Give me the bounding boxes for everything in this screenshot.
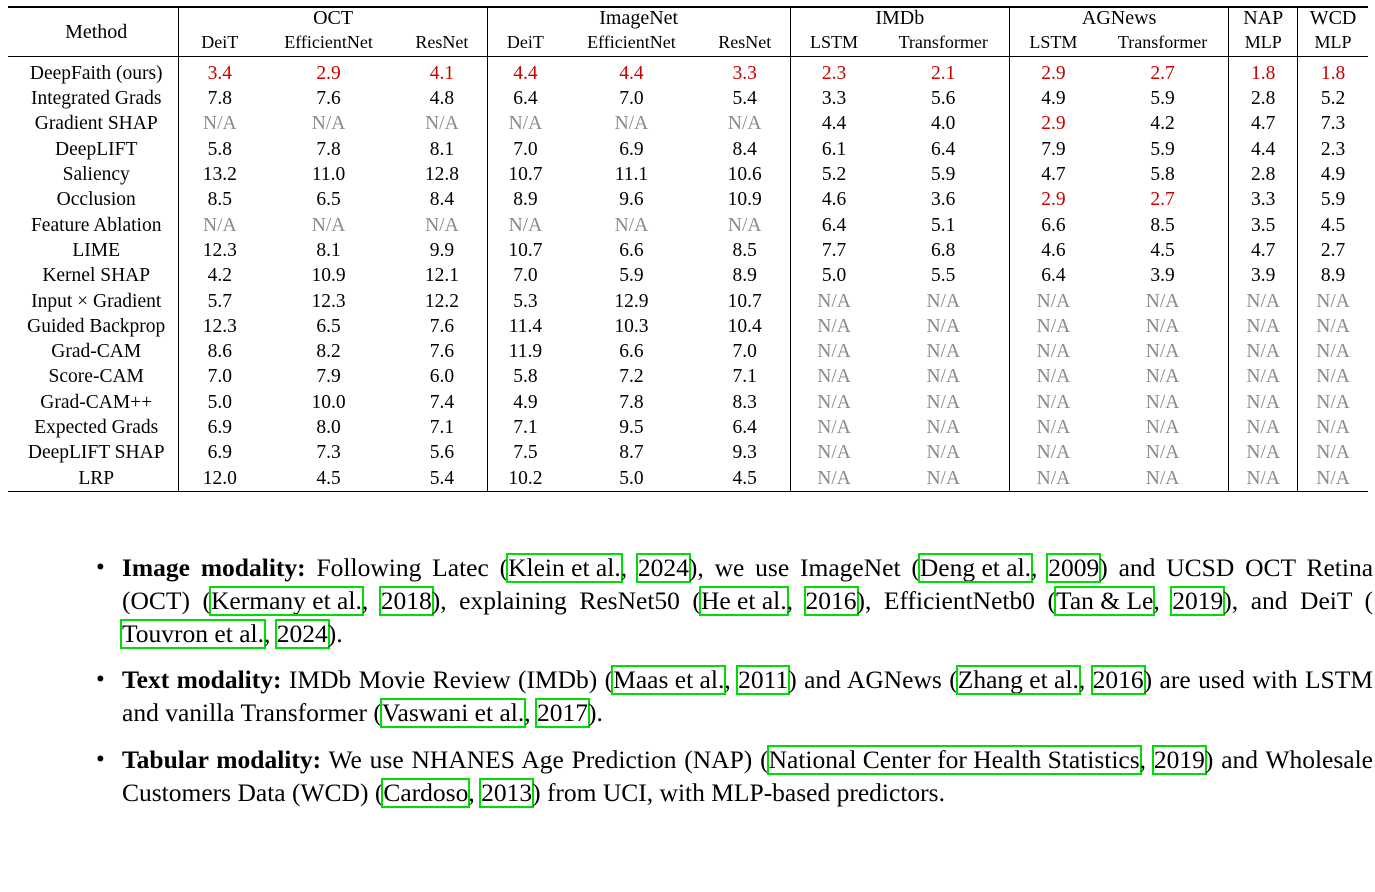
table-cell: 8.3	[700, 390, 790, 415]
table-cell: 7.2	[563, 365, 700, 390]
table-cell: 2.9	[1009, 187, 1096, 212]
table-cell: N/A	[1298, 440, 1368, 465]
table-cell: 3.3	[700, 57, 790, 87]
table-cell: 7.0	[700, 339, 790, 364]
table-cell: 6.5	[260, 314, 397, 339]
table-row: DeepFaith (ours)3.42.94.14.44.43.32.32.1…	[8, 57, 1368, 87]
table-cell: N/A	[790, 365, 877, 390]
citation-link[interactable]: 2024	[638, 555, 689, 581]
table-cell: 2.3	[1298, 137, 1368, 162]
table-cell: N/A	[1229, 466, 1298, 492]
table-row: Input × Gradient5.712.312.25.312.910.7N/…	[8, 289, 1368, 314]
table-row: Grad-CAM8.68.27.611.96.67.0N/AN/AN/AN/AN…	[8, 339, 1368, 364]
table-cell: 6.4	[487, 86, 563, 111]
table-cell: 2.9	[260, 57, 397, 87]
table-cell: 12.8	[397, 162, 487, 187]
column-group-header-wcd: WCD	[1298, 7, 1368, 30]
table-cell: N/A	[1229, 440, 1298, 465]
list-item-lead-in: Tabular modality:	[122, 745, 321, 774]
table-cell: 8.4	[700, 137, 790, 162]
table-cell: 7.0	[563, 86, 700, 111]
table-head: MethodOCTImageNetIMDbAGNewsNAPWCD DeiTEf…	[8, 7, 1368, 57]
column-header-agnews-transformer: Transformer	[1097, 30, 1229, 57]
table-row: Score-CAM7.07.96.05.87.27.1N/AN/AN/AN/AN…	[8, 365, 1368, 390]
results-table-container: MethodOCTImageNetIMDbAGNewsNAPWCD DeiTEf…	[8, 6, 1368, 496]
citation-link[interactable]: Maas et al.	[613, 667, 724, 693]
table-cell: N/A	[1009, 390, 1096, 415]
table-cell: 9.9	[397, 238, 487, 263]
table-cell: 6.4	[1009, 263, 1096, 288]
table-cell: 4.7	[1229, 238, 1298, 263]
row-label-method: DeepLIFT SHAP	[8, 440, 179, 465]
citation-link[interactable]: He et al.	[701, 588, 787, 614]
table-cell: 7.9	[1009, 137, 1096, 162]
row-label-method: Input × Gradient	[8, 289, 179, 314]
table-cell: N/A	[563, 112, 700, 137]
table-cell: N/A	[1097, 390, 1229, 415]
table-cell: N/A	[1009, 466, 1096, 492]
table-cell: 8.5	[1097, 213, 1229, 238]
row-label-method: Occlusion	[8, 187, 179, 212]
citation-link[interactable]: 2019	[1154, 747, 1205, 773]
table-cell: 5.9	[563, 263, 700, 288]
table-cell: N/A	[397, 213, 487, 238]
table-cell: 6.5	[260, 187, 397, 212]
citation-link[interactable]: 2013	[481, 780, 532, 806]
table-cell: 7.8	[179, 86, 260, 111]
table-cell: 3.9	[1229, 263, 1298, 288]
table-cell: N/A	[397, 112, 487, 137]
column-header-wcd-mlp: MLP	[1298, 30, 1368, 57]
table-cell: N/A	[1009, 314, 1096, 339]
table-cell: 12.3	[260, 289, 397, 314]
table-cell: 3.4	[179, 57, 260, 87]
table-cell: 7.0	[487, 263, 563, 288]
citation-link[interactable]: Cardoso	[383, 780, 468, 806]
table-cell: 6.4	[790, 213, 877, 238]
table-cell: 7.8	[563, 390, 700, 415]
table-cell: 6.6	[563, 238, 700, 263]
table-cell: 2.8	[1229, 162, 1298, 187]
table-cell: N/A	[1298, 314, 1368, 339]
row-label-method: LIME	[8, 238, 179, 263]
table-cell: 6.0	[397, 365, 487, 390]
table-cell: 13.2	[179, 162, 260, 187]
table-cell: 10.9	[700, 187, 790, 212]
table-row: Occlusion8.56.58.48.99.610.94.63.62.92.7…	[8, 187, 1368, 212]
table-cell: 4.5	[1097, 238, 1229, 263]
table-cell: N/A	[1009, 339, 1096, 364]
table-cell: 3.3	[790, 86, 877, 111]
table-cell: 8.5	[700, 238, 790, 263]
row-label-method: Feature Ablation	[8, 213, 179, 238]
table-cell: 2.9	[1009, 112, 1096, 137]
table-cell: 4.7	[1009, 162, 1096, 187]
column-header-agnews-lstm: LSTM	[1009, 30, 1096, 57]
table-cell: 4.4	[1229, 137, 1298, 162]
table-cell: N/A	[1097, 415, 1229, 440]
table-cell: N/A	[878, 365, 1010, 390]
table-cell: 5.7	[179, 289, 260, 314]
table-cell: N/A	[790, 466, 877, 492]
table-cell: 3.6	[878, 187, 1010, 212]
table-cell: 6.4	[700, 415, 790, 440]
row-label-method: LRP	[8, 466, 179, 492]
row-label-method: Kernel SHAP	[8, 263, 179, 288]
table-row: Kernel SHAP4.210.912.17.05.98.95.05.56.4…	[8, 263, 1368, 288]
table-cell: 3.3	[1229, 187, 1298, 212]
table-cell: N/A	[1097, 440, 1229, 465]
row-label-method: Grad-CAM	[8, 339, 179, 364]
table-cell: N/A	[878, 466, 1010, 492]
body-text: ,	[787, 586, 806, 615]
body-text: ).	[588, 698, 603, 727]
table-cell: 4.6	[790, 187, 877, 212]
table-cell: 5.2	[790, 162, 877, 187]
row-label-method: DeepLIFT	[8, 137, 179, 162]
table-cell: 8.1	[397, 137, 487, 162]
table-row: Guided Backprop12.36.57.611.410.310.4N/A…	[8, 314, 1368, 339]
citation-link[interactable]: 2011	[738, 667, 788, 693]
table-cell: 4.1	[397, 57, 487, 87]
column-group-header-oct: OCT	[179, 7, 487, 30]
table-cell: 4.5	[260, 466, 397, 492]
table-cell: N/A	[1229, 365, 1298, 390]
table-cell: 4.2	[1097, 112, 1229, 137]
table-cell: N/A	[878, 390, 1010, 415]
table-cell: 6.8	[878, 238, 1010, 263]
list-item: •Image modality: Following Latec (Klein …	[88, 552, 1373, 650]
table-row: Saliency13.211.012.810.711.110.65.25.94.…	[8, 162, 1368, 187]
citation-link[interactable]: National Center for Health Statistics	[769, 747, 1140, 773]
table-cell: 5.8	[487, 365, 563, 390]
table-cell: 5.8	[1097, 162, 1229, 187]
table-cell: N/A	[1097, 339, 1229, 364]
body-text: ,	[724, 665, 738, 694]
table-cell: 5.4	[397, 466, 487, 492]
table-cell: 4.6	[1009, 238, 1096, 263]
table-cell: 2.3	[790, 57, 877, 87]
table-cell: 9.6	[563, 187, 700, 212]
table-cell: 4.5	[700, 466, 790, 492]
table-cell: N/A	[1009, 440, 1096, 465]
table-cell: 2.7	[1097, 187, 1229, 212]
list-item-lead-in: Image modality:	[122, 553, 306, 582]
table-cell: 11.4	[487, 314, 563, 339]
column-header-imdb-lstm: LSTM	[790, 30, 877, 57]
table-row: Expected Grads6.98.07.17.19.56.4N/AN/AN/…	[8, 415, 1368, 440]
table-cell: N/A	[700, 112, 790, 137]
table-cell: 5.5	[878, 263, 1010, 288]
table-cell: 11.9	[487, 339, 563, 364]
citation-link[interactable]: 2018	[381, 588, 432, 614]
table-body: DeepFaith (ours)3.42.94.14.44.43.32.32.1…	[8, 57, 1368, 497]
table-cell: 10.7	[487, 162, 563, 187]
bullet-dot-icon: •	[96, 744, 105, 776]
table-cell: N/A	[1097, 314, 1229, 339]
table-cell: 11.0	[260, 162, 397, 187]
table-cell: N/A	[1298, 339, 1368, 364]
table-cell: 10.7	[487, 238, 563, 263]
table-cell: N/A	[487, 213, 563, 238]
table-cell: 5.3	[487, 289, 563, 314]
table-cell: N/A	[179, 112, 260, 137]
citation-link[interactable]: Kermany et al.	[211, 588, 362, 614]
list-item: •Tabular modality: We use NHANES Age Pre…	[88, 744, 1373, 810]
table-cell: 6.9	[563, 137, 700, 162]
table-cell: N/A	[1298, 365, 1368, 390]
body-text: ), we use ImageNet (	[689, 553, 920, 582]
table-cell: 2.7	[1097, 57, 1229, 87]
citation-link[interactable]: Touvron et al.	[122, 621, 264, 647]
row-label-method: Gradient SHAP	[8, 112, 179, 137]
group-header-row: MethodOCTImageNetIMDbAGNewsNAPWCD	[8, 7, 1368, 30]
citation-link[interactable]: 2024	[277, 621, 328, 647]
table-cell: N/A	[1229, 314, 1298, 339]
citation-link[interactable]: 2017	[537, 700, 588, 726]
row-label-method: Score-CAM	[8, 365, 179, 390]
table-cell: N/A	[878, 415, 1010, 440]
citation-link[interactable]: Vaswani et al.	[382, 700, 524, 726]
table-cell: N/A	[790, 314, 877, 339]
table-cell: N/A	[790, 440, 877, 465]
body-text: ,	[468, 778, 481, 807]
table-cell: 10.3	[563, 314, 700, 339]
table-cell: 6.1	[790, 137, 877, 162]
table-cell: N/A	[878, 440, 1010, 465]
body-text: We use NHANES Age Prediction (NAP) (	[321, 745, 768, 774]
table-cell: 1.8	[1229, 57, 1298, 87]
table-row: LIME12.38.19.910.76.68.57.76.84.64.54.72…	[8, 238, 1368, 263]
table-cell: N/A	[1097, 365, 1229, 390]
table-cell: 3.5	[1229, 213, 1298, 238]
table-cell: 2.8	[1229, 86, 1298, 111]
table-cell: N/A	[1229, 339, 1298, 364]
column-header-imagenet-efficientnet: EfficientNet	[563, 30, 700, 57]
table-cell: 4.7	[1229, 112, 1298, 137]
table-cell: N/A	[790, 390, 877, 415]
table-cell: 8.9	[487, 187, 563, 212]
table-cell: 4.4	[563, 57, 700, 87]
column-header-oct-efficientnet: EfficientNet	[260, 30, 397, 57]
bottom-rule	[8, 492, 1368, 497]
table-cell: 6.4	[878, 137, 1010, 162]
table-cell: N/A	[700, 213, 790, 238]
table-cell: 4.0	[878, 112, 1010, 137]
table-cell: N/A	[1298, 390, 1368, 415]
table-cell: 1.8	[1298, 57, 1368, 87]
table-cell: 12.2	[397, 289, 487, 314]
table-cell: 7.4	[397, 390, 487, 415]
column-header-oct-resnet: ResNet	[397, 30, 487, 57]
table-cell: 9.5	[563, 415, 700, 440]
row-label-method: Integrated Grads	[8, 86, 179, 111]
citation-link[interactable]: 2019	[1172, 588, 1223, 614]
table-cell: 7.8	[260, 137, 397, 162]
table-cell: 5.9	[1097, 86, 1229, 111]
body-text: ,	[1031, 553, 1048, 582]
table-cell: 4.2	[179, 263, 260, 288]
table-cell: 7.6	[397, 314, 487, 339]
table-cell: 10.7	[700, 289, 790, 314]
table-cell: 7.7	[790, 238, 877, 263]
body-text: IMDb Movie Review (IMDb) (	[281, 665, 613, 694]
table-cell: 10.0	[260, 390, 397, 415]
table-cell: 8.9	[1298, 263, 1368, 288]
table-cell: 5.9	[878, 162, 1010, 187]
body-text: ,	[621, 553, 638, 582]
table-cell: 6.9	[179, 440, 260, 465]
table-cell: 7.0	[487, 137, 563, 162]
table-cell: 8.0	[260, 415, 397, 440]
body-text: ), EfficientNetb0 (	[857, 586, 1057, 615]
column-header-method: Method	[8, 7, 179, 57]
table-cell: 10.9	[260, 263, 397, 288]
citation-link[interactable]: Deng et al.	[920, 555, 1031, 581]
table-cell: 12.0	[179, 466, 260, 492]
list-item: •Text modality: IMDb Movie Review (IMDb)…	[88, 664, 1373, 730]
table-cell: N/A	[1229, 289, 1298, 314]
table-cell: 5.1	[878, 213, 1010, 238]
table-row: DeepLIFT SHAP6.97.35.67.58.79.3N/AN/AN/A…	[8, 440, 1368, 465]
row-label-method: Guided Backprop	[8, 314, 179, 339]
bullet-dot-icon: •	[96, 552, 105, 584]
table-cell: 8.7	[563, 440, 700, 465]
table-cell: N/A	[487, 112, 563, 137]
body-text: ), and DeiT (	[1223, 586, 1373, 615]
table-cell: 4.9	[1009, 86, 1096, 111]
modality-bullet-list: •Image modality: Following Latec (Klein …	[88, 552, 1373, 809]
body-text: ,	[362, 586, 381, 615]
table-cell: 4.9	[487, 390, 563, 415]
table-cell: 4.8	[397, 86, 487, 111]
table-cell: 7.9	[260, 365, 397, 390]
table-row: Gradient SHAPN/AN/AN/AN/AN/AN/A4.44.02.9…	[8, 112, 1368, 137]
row-label-method: Grad-CAM++	[8, 390, 179, 415]
column-group-header-imdb: IMDb	[790, 7, 1009, 30]
table-cell: 7.1	[397, 415, 487, 440]
table-cell: N/A	[260, 112, 397, 137]
citation-link[interactable]: 2016	[806, 588, 857, 614]
subcolumn-header-row: DeiTEfficientNetResNetDeiTEfficientNetRe…	[8, 30, 1368, 57]
table-cell: 10.2	[487, 466, 563, 492]
table-cell: 9.3	[700, 440, 790, 465]
table-cell: N/A	[1009, 365, 1096, 390]
table-cell: 12.9	[563, 289, 700, 314]
table-cell: 12.3	[179, 238, 260, 263]
table-cell: 12.3	[179, 314, 260, 339]
table-cell: 6.9	[179, 415, 260, 440]
column-group-header-agnews: AGNews	[1009, 7, 1228, 30]
table-cell: 5.9	[1097, 137, 1229, 162]
table-cell: 8.6	[179, 339, 260, 364]
table-cell: 5.0	[563, 466, 700, 492]
body-text: ,	[1079, 665, 1093, 694]
column-header-oct-deit: DeiT	[179, 30, 260, 57]
body-text: ,	[1153, 586, 1172, 615]
citation-link[interactable]: Klein et al.	[508, 555, 621, 581]
table-cell: 8.2	[260, 339, 397, 364]
citation-link[interactable]: Tan & Le	[1056, 588, 1153, 614]
table-cell: N/A	[790, 339, 877, 364]
table-cell: 5.4	[700, 86, 790, 111]
table-cell: N/A	[1298, 466, 1368, 492]
table-cell: N/A	[179, 213, 260, 238]
column-header-imagenet-deit: DeiT	[487, 30, 563, 57]
table-cell: 5.2	[1298, 86, 1368, 111]
table-cell: 7.3	[260, 440, 397, 465]
table-cell: 4.5	[1298, 213, 1368, 238]
column-header-nap-mlp: MLP	[1229, 30, 1298, 57]
table-cell: 11.1	[563, 162, 700, 187]
table-row: Grad-CAM++5.010.07.44.97.88.3N/AN/AN/AN/…	[8, 390, 1368, 415]
table-cell: 7.1	[700, 365, 790, 390]
table-cell: 5.6	[878, 86, 1010, 111]
table-bottom-rule	[8, 492, 1368, 497]
table-cell: 7.5	[487, 440, 563, 465]
citation-link[interactable]: 2009	[1048, 555, 1099, 581]
table-cell: 6.6	[1009, 213, 1096, 238]
table-cell: 8.9	[700, 263, 790, 288]
table-cell: N/A	[563, 213, 700, 238]
body-text: ), explaining ResNet50 (	[432, 586, 701, 615]
table-cell: 5.0	[790, 263, 877, 288]
table-cell: 7.0	[179, 365, 260, 390]
table-cell: N/A	[1229, 390, 1298, 415]
table-cell: 12.1	[397, 263, 487, 288]
table-cell: 8.1	[260, 238, 397, 263]
table-cell: N/A	[1298, 415, 1368, 440]
table-cell: 5.8	[179, 137, 260, 162]
table-cell: 2.9	[1009, 57, 1096, 87]
body-text: ) from UCI, with MLP-based predictors.	[532, 778, 945, 807]
citation-link[interactable]: Zhang et al.	[958, 667, 1079, 693]
body-text: ,	[264, 619, 277, 648]
table-cell: N/A	[1009, 289, 1096, 314]
table-cell: N/A	[878, 339, 1010, 364]
table-row: Integrated Grads7.87.64.86.47.05.43.35.6…	[8, 86, 1368, 111]
row-label-method: Expected Grads	[8, 415, 179, 440]
body-text: ) and AGNews (	[788, 665, 958, 694]
table-cell: N/A	[1009, 415, 1096, 440]
table-cell: 5.9	[1298, 187, 1368, 212]
table-cell: N/A	[1097, 289, 1229, 314]
table-cell: N/A	[878, 314, 1010, 339]
bullet-dot-icon: •	[96, 664, 105, 696]
row-label-method: Saliency	[8, 162, 179, 187]
table-cell: N/A	[790, 289, 877, 314]
table-cell: 4.4	[487, 57, 563, 87]
table-cell: 10.6	[700, 162, 790, 187]
table-row: DeepLIFT5.87.88.17.06.98.46.16.47.95.94.…	[8, 137, 1368, 162]
table-cell: 2.1	[878, 57, 1010, 87]
table-cell: N/A	[1298, 289, 1368, 314]
table-cell: 7.6	[260, 86, 397, 111]
table-cell: 10.4	[700, 314, 790, 339]
table-cell: 2.7	[1298, 238, 1368, 263]
body-text: Following Latec (	[306, 553, 508, 582]
row-label-method: DeepFaith (ours)	[8, 57, 179, 87]
list-item-lead-in: Text modality:	[122, 665, 281, 694]
table-cell: N/A	[260, 213, 397, 238]
body-text: ).	[328, 619, 343, 648]
column-group-header-imagenet: ImageNet	[487, 7, 790, 30]
column-header-imdb-transformer: Transformer	[878, 30, 1010, 57]
citation-link[interactable]: 2016	[1093, 667, 1144, 693]
table-cell: 7.1	[487, 415, 563, 440]
table-cell: 4.9	[1298, 162, 1368, 187]
table-cell: 5.0	[179, 390, 260, 415]
